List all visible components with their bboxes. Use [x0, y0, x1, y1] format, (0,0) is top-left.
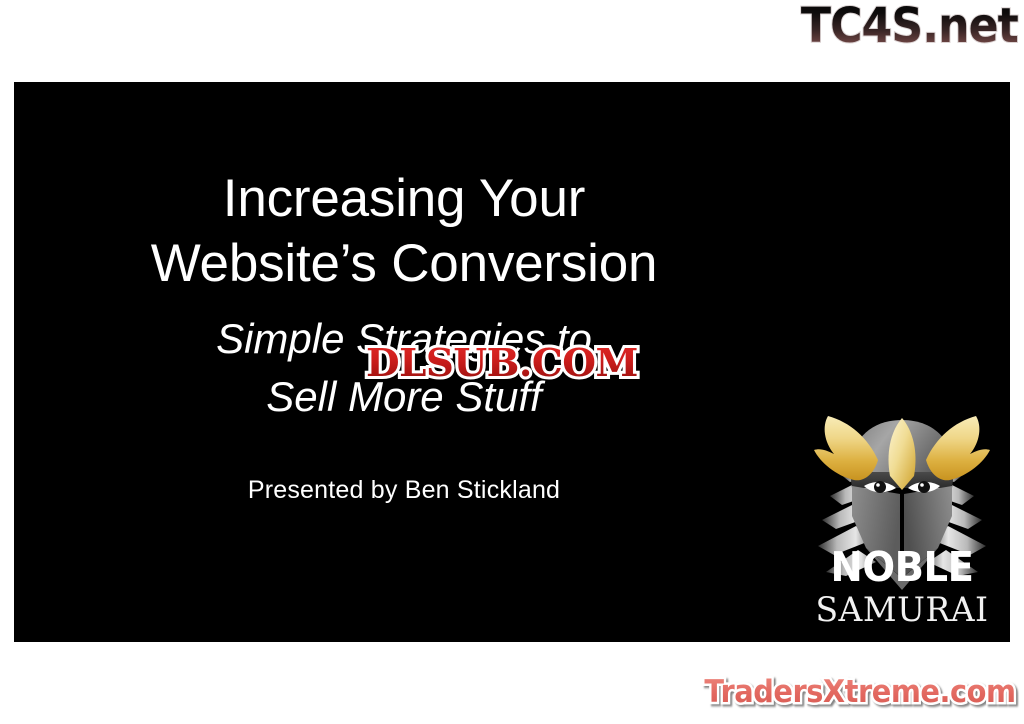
- slide-title-line-1: Increasing Your: [14, 166, 794, 231]
- tradersxtreme-watermark-text: TradersXtreme.com: [705, 672, 1016, 712]
- noble-samurai-logo: NOBLE SAMURAI: [806, 398, 998, 634]
- presentation-slide: Increasing Your Website’s Conversion Sim…: [14, 82, 1010, 642]
- logo-secondary-text: SAMURAI: [809, 592, 995, 628]
- tc4s-watermark: TC4S.net: [801, 0, 1018, 56]
- slide-presenter: Presented by Ben Stickland: [14, 476, 794, 505]
- slide-title-line-2: Website’s Conversion: [14, 231, 794, 296]
- helmet-horn-right: [926, 416, 990, 480]
- helmet-horn-left: [814, 416, 878, 480]
- slide-title: Increasing Your Website’s Conversion: [14, 166, 794, 296]
- dlsub-watermark: DLSUB.COM: [366, 344, 638, 382]
- logo-primary-text: NOBLE: [812, 547, 992, 588]
- dlsub-watermark-text: DLSUB.COM: [366, 340, 638, 385]
